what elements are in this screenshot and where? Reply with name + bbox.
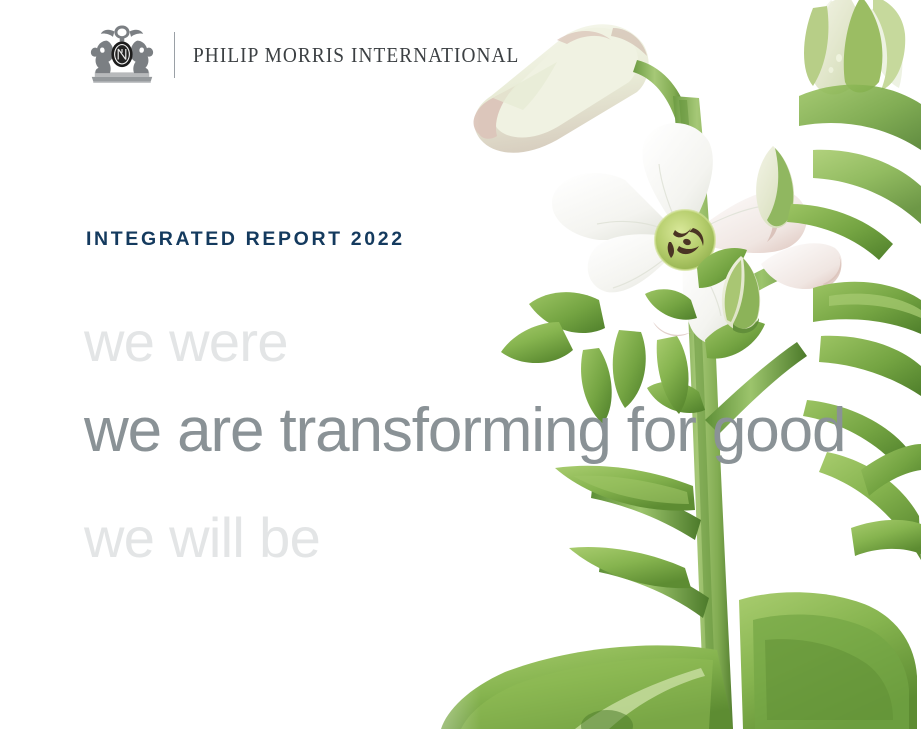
headline-line-future: we will be [84,504,784,596]
report-cover-page: PHILIP MORRIS INTERNATIONAL INTEGRATED R… [0,0,921,729]
report-title-eyebrow: INTEGRATED REPORT 2022 [86,230,405,250]
heraldic-crest-icon [84,24,160,86]
headline-line-present: we are transforming for good [84,400,784,504]
cover-headline: we were we are transforming for good we … [84,300,784,596]
brand-logo: PHILIP MORRIS INTERNATIONAL [84,24,548,86]
headline-line-past: we were [84,300,784,400]
logo-divider [174,32,175,78]
brand-wordmark: PHILIP MORRIS INTERNATIONAL [193,45,519,66]
